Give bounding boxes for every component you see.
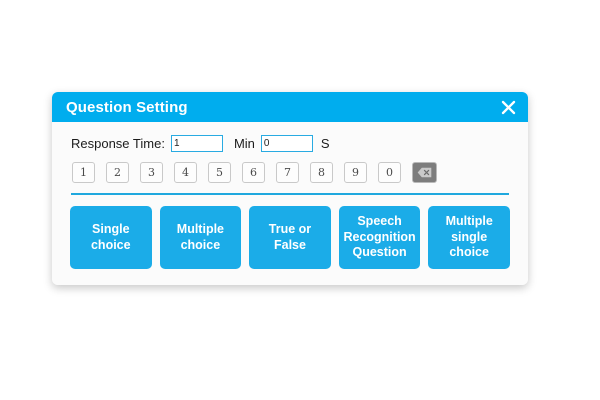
response-time-label: Response Time: xyxy=(71,136,165,151)
close-icon[interactable] xyxy=(498,97,518,117)
response-time-minutes-input[interactable] xyxy=(171,135,223,152)
multiple-choice-button[interactable]: Multiple choice xyxy=(160,206,242,269)
backspace-icon[interactable] xyxy=(412,162,437,183)
seconds-unit-label: S xyxy=(321,136,330,151)
speech-recognition-question-button[interactable]: Speech Recognition Question xyxy=(339,206,421,269)
key-2[interactable]: 2 xyxy=(106,162,129,183)
key-6[interactable]: 6 xyxy=(242,162,265,183)
key-4[interactable]: 4 xyxy=(174,162,197,183)
question-type-button-row: Single choice Multiple choice True or Fa… xyxy=(66,206,514,269)
screen-root: Question Setting Response Time: Min S 1 … xyxy=(0,0,600,400)
key-9[interactable]: 9 xyxy=(344,162,367,183)
numeric-keypad: 1 2 3 4 5 6 7 8 9 0 xyxy=(66,162,514,183)
response-time-seconds-input[interactable] xyxy=(261,135,313,152)
key-7[interactable]: 7 xyxy=(276,162,299,183)
key-5[interactable]: 5 xyxy=(208,162,231,183)
key-0[interactable]: 0 xyxy=(378,162,401,183)
true-or-false-button[interactable]: True or False xyxy=(249,206,331,269)
minutes-unit-label: Min xyxy=(234,136,255,151)
multiple-single-choice-button[interactable]: Multiple single choice xyxy=(428,206,510,269)
dialog-title: Question Setting xyxy=(66,100,188,115)
section-divider xyxy=(71,193,509,195)
single-choice-button[interactable]: Single choice xyxy=(70,206,152,269)
dialog-body: Response Time: Min S 1 2 3 4 5 6 7 8 9 0 xyxy=(52,122,528,285)
key-8[interactable]: 8 xyxy=(310,162,333,183)
key-1[interactable]: 1 xyxy=(72,162,95,183)
key-3[interactable]: 3 xyxy=(140,162,163,183)
response-time-row: Response Time: Min S xyxy=(66,133,514,153)
dialog-titlebar: Question Setting xyxy=(52,92,528,122)
question-setting-dialog: Question Setting Response Time: Min S 1 … xyxy=(52,92,528,285)
